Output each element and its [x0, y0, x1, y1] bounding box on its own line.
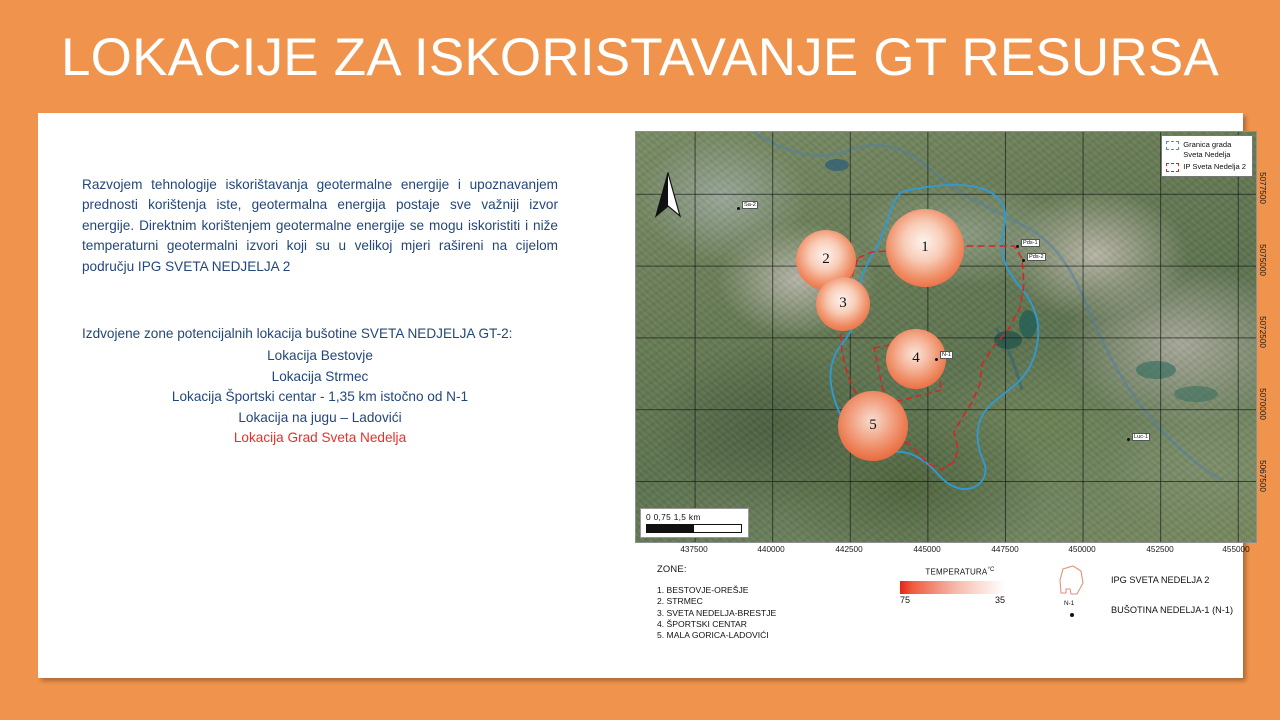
symbol-legend-row-well: N-1 BUŠOTINA NEDELJA-1 (N-1) — [1047, 595, 1237, 625]
x-tick: 450000 — [1068, 545, 1095, 554]
legend-line-2: Sveta Nedelja — [1183, 150, 1230, 159]
temperature-legend-title: TEMPERATURA°C — [900, 567, 1020, 577]
y-tick: 5067500 — [1258, 460, 1267, 492]
zone-legend-item: 5. MALA GORICA-LADOVIĆI — [657, 630, 776, 641]
x-tick: 452500 — [1146, 545, 1173, 554]
temperature-title-text: TEMPERATURA — [925, 568, 987, 577]
text-column: Razvojem tehnologije iskorištavanja geot… — [82, 175, 558, 448]
x-tick: 440000 — [757, 545, 784, 554]
map-y-axis: 5077500 5075000 5072500 5070000 5067500 — [1258, 131, 1272, 543]
map-canvas[interactable]: 1 2 3 4 5 — [635, 131, 1257, 543]
temperature-unit: °C — [987, 567, 994, 573]
boundary-layer — [636, 132, 1256, 542]
legend-item-label: IP Sveta Nedelja 2 — [1183, 162, 1246, 172]
well-icon-tag: N-1 — [1064, 600, 1074, 607]
legend-item-ip-area: IP Sveta Nedelja 2 — [1166, 162, 1246, 172]
scale-bar: 0 0,75 1,5 km — [640, 508, 749, 538]
blue-dashed-swatch-icon — [1166, 141, 1179, 150]
x-tick: 445000 — [913, 545, 940, 554]
map-legend: Granica grada Sveta Nedelja IP Sveta Ned… — [1161, 135, 1253, 177]
page-title: LOKACIJE ZA ISKORISTAVANJE GT RESURSA — [0, 26, 1280, 90]
temperature-min-value: 35 — [995, 595, 1005, 605]
zone-marker-label: 5 — [869, 417, 877, 434]
zone-marker-label: 1 — [921, 239, 929, 256]
figure-legend: ZONE: 1. BESTOVJE-OREŠJE 2. STRMEC 3. SV… — [597, 563, 1237, 668]
well-label: Luc-1 — [1132, 433, 1150, 441]
polygon-outline-icon — [1047, 563, 1097, 597]
zone-legend-item: 3. SVETA NEDELJA-BRESTJE — [657, 608, 776, 619]
list-item: Lokacija Bestovje — [82, 346, 558, 366]
zone-legend-item: 1. BESTOVJE-OREŠJE — [657, 585, 776, 596]
zone-marker-5[interactable]: 5 — [838, 391, 908, 461]
list-item: Lokacija Strmec — [82, 367, 558, 387]
scale-bar-labels: 0 0,75 1,5 km — [646, 512, 742, 522]
zone-marker-label: 2 — [822, 251, 830, 268]
list-item: Lokacija Športski centar - 1,35 km istoč… — [82, 387, 558, 407]
symbol-legend-label: IPG SVETA NEDELJA 2 — [1111, 575, 1209, 585]
legend-item-city-boundary: Granica grada Sveta Nedelja — [1166, 140, 1246, 161]
zone-marker-3[interactable]: 3 — [816, 277, 870, 331]
temperature-range: 75 35 — [900, 595, 1005, 607]
slide: LOKACIJE ZA ISKORISTAVANJE GT RESURSA Ra… — [0, 0, 1280, 720]
map-figure: 1 2 3 4 5 — [597, 118, 1237, 668]
temperature-legend: TEMPERATURA°C 75 35 — [900, 567, 1020, 607]
zones-heading: ZONE: — [657, 563, 687, 574]
symbol-legend-row-ipg: IPG SVETA NEDELJA 2 — [1047, 565, 1237, 595]
y-tick: 5075000 — [1258, 244, 1267, 276]
x-tick: 447500 — [991, 545, 1018, 554]
temperature-max-value: 75 — [900, 595, 910, 605]
well-label: Pds-2 — [1027, 253, 1046, 261]
well-point-icon: N-1 — [1047, 593, 1097, 627]
north-arrow-icon — [655, 172, 681, 218]
y-tick: 5072500 — [1258, 316, 1267, 348]
y-tick: 5077500 — [1258, 172, 1267, 204]
zone-marker-label: 3 — [839, 295, 847, 312]
temperature-gradient-bar — [900, 581, 1005, 594]
zone-marker-1[interactable]: 1 — [886, 209, 964, 287]
y-tick: 5070000 — [1258, 388, 1267, 420]
paragraph-zones-intro: Izdvojene zone potencijalnih lokacija bu… — [82, 324, 558, 344]
legend-line-1: Granica grada — [1183, 140, 1231, 149]
list-item-highlighted: Lokacija Grad Sveta Nedelja — [82, 428, 558, 448]
legend-item-label: Granica grada Sveta Nedelja — [1183, 140, 1231, 161]
zones-list: 1. BESTOVJE-OREŠJE 2. STRMEC 3. SVETA NE… — [657, 585, 776, 641]
zone-marker-label: 4 — [912, 350, 920, 367]
x-tick: 455000 — [1222, 545, 1249, 554]
red-dashed-swatch-icon — [1166, 163, 1179, 172]
well-label: Sa-2 — [742, 201, 758, 209]
location-list: Lokacija Bestovje Lokacija Strmec Lokaci… — [82, 346, 558, 448]
well-dot — [1070, 613, 1074, 617]
symbol-legend-label: BUŠOTINA NEDELJA-1 (N-1) — [1111, 605, 1233, 615]
paragraph-intro: Razvojem tehnologije iskorištavanja geot… — [82, 175, 558, 277]
content-panel: Razvojem tehnologije iskorištavanja geot… — [38, 113, 1243, 678]
x-tick: 437500 — [680, 545, 707, 554]
scale-bar-graphic — [646, 524, 742, 533]
map-x-axis: 437500 440000 442500 445000 447500 45000… — [635, 545, 1257, 559]
zone-legend-item: 4. ŠPORTSKI CENTAR — [657, 619, 776, 630]
well-label: Pds-1 — [1021, 239, 1040, 247]
list-item: Lokacija na jugu – Ladovići — [82, 408, 558, 428]
zone-legend-item: 2. STRMEC — [657, 596, 776, 607]
well-label: N-1 — [940, 351, 953, 359]
x-tick: 442500 — [835, 545, 862, 554]
symbol-legend: IPG SVETA NEDELJA 2 N-1 BUŠOTINA NEDELJA… — [1047, 565, 1237, 625]
